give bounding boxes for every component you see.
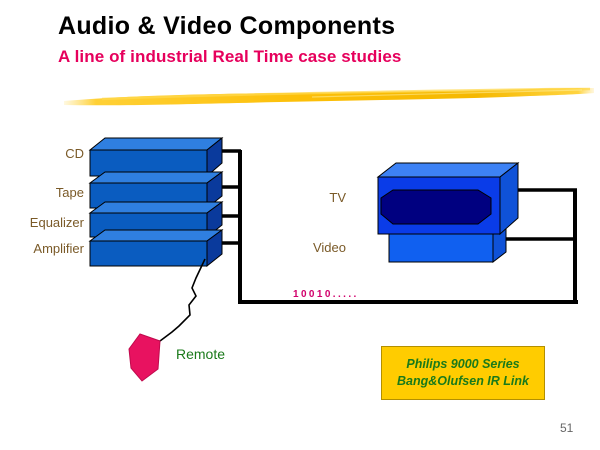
stack-box-amplifier bbox=[90, 230, 222, 266]
bus-bitstream-label: 10010..... bbox=[293, 289, 359, 300]
video-box bbox=[389, 222, 506, 262]
page-title: Audio & Video Components bbox=[58, 12, 395, 41]
label-amplifier: Amplifier bbox=[0, 241, 84, 256]
page-number: 51 bbox=[560, 421, 573, 435]
stack-box-equalizer bbox=[90, 202, 222, 237]
page-subtitle: A line of industrial Real Time case stud… bbox=[58, 47, 401, 67]
brush-stroke-divider bbox=[62, 84, 596, 114]
stack-box-cd bbox=[90, 138, 222, 176]
remote-body bbox=[129, 334, 160, 381]
callout-line-1: Philips 9000 Series bbox=[406, 358, 519, 372]
callout-box: Philips 9000 Series Bang&Olufsen IR Link bbox=[381, 346, 545, 400]
tv-screen bbox=[381, 190, 491, 224]
stack-box-tape bbox=[90, 172, 222, 208]
label-cd: CD bbox=[0, 146, 84, 161]
tv-box bbox=[378, 163, 518, 234]
ir-signal-line bbox=[160, 259, 205, 341]
callout-line-2: Bang&Olufsen IR Link bbox=[397, 375, 529, 389]
label-tape: Tape bbox=[0, 185, 84, 200]
slide-canvas: Audio & Video Components A line of indus… bbox=[0, 0, 600, 450]
label-video: Video bbox=[290, 240, 346, 255]
label-tv: TV bbox=[300, 190, 346, 205]
label-equalizer: Equalizer bbox=[0, 215, 84, 230]
label-remote: Remote bbox=[176, 346, 225, 362]
